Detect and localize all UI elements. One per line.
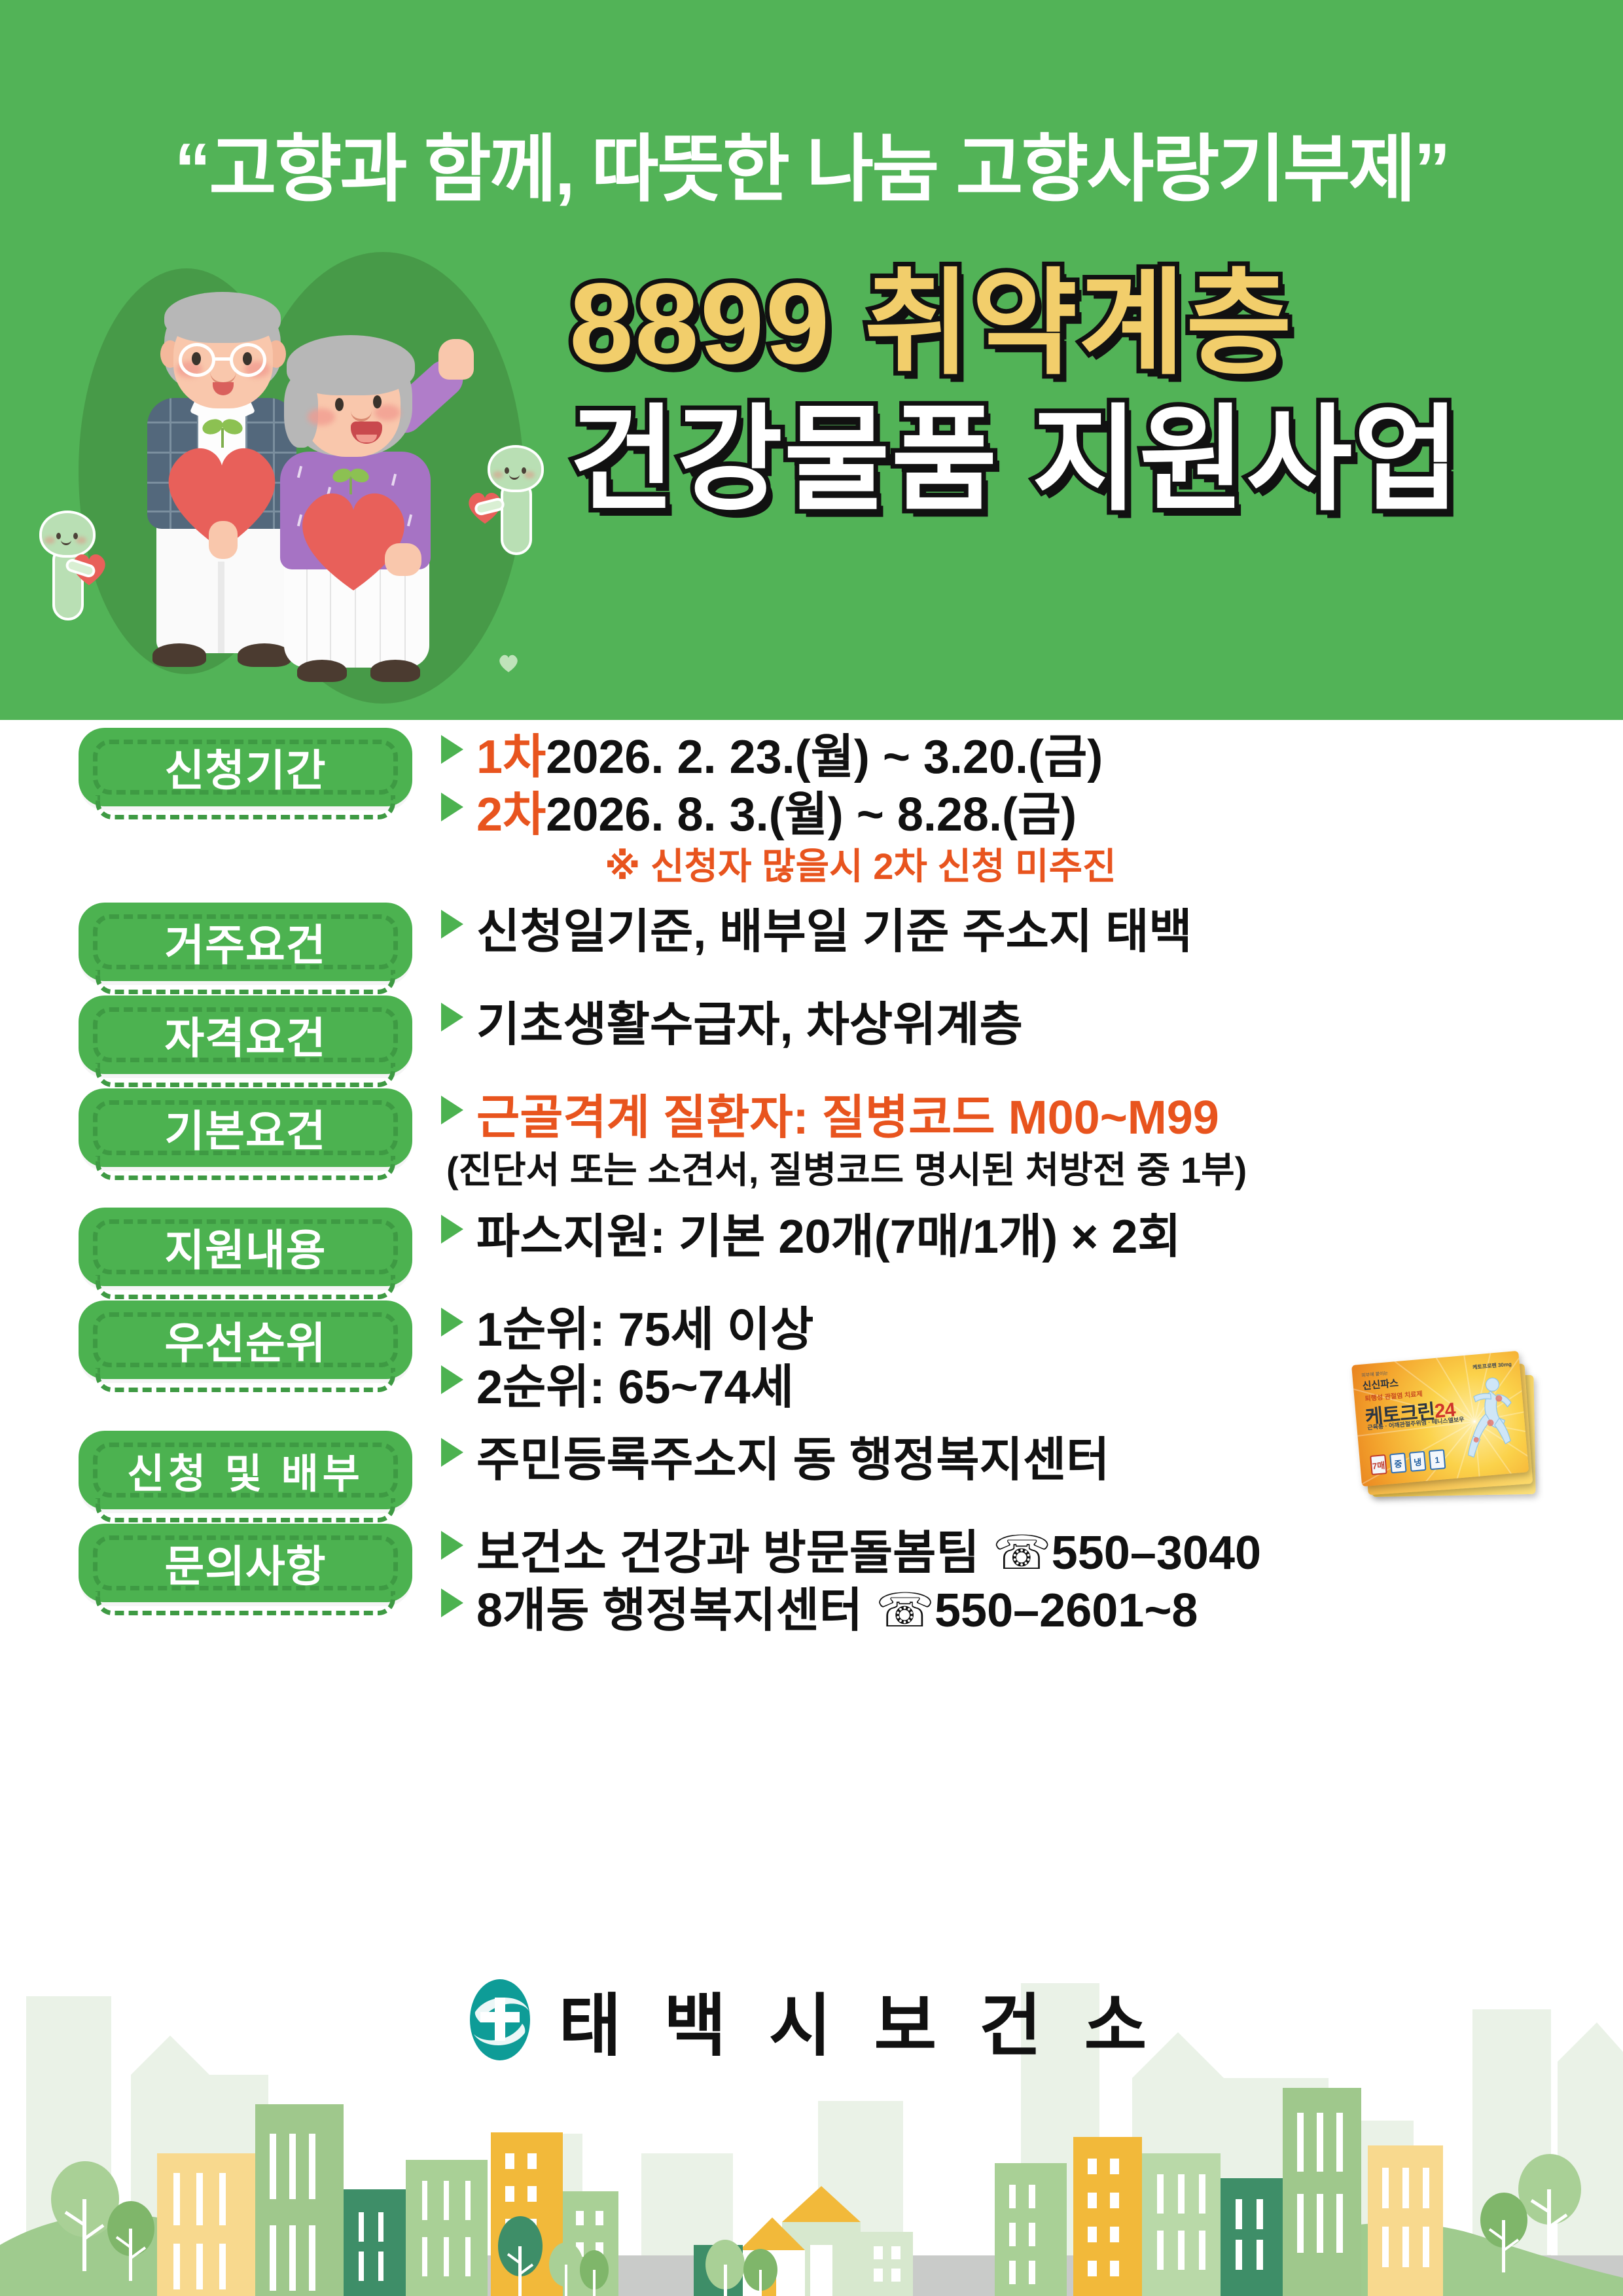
triangle-bullet-icon — [441, 1308, 463, 1336]
info-row-eligibility: 자격요건 기초생활수급자, 차상위계층 — [0, 996, 1623, 1074]
triangle-bullet-icon — [441, 910, 463, 939]
info-row-support-details: 지원내용 파스지원: 기본 20개(7매/1개) × 2회 — [0, 1208, 1623, 1286]
priority-1-text: 1순위: 75세 이상 — [476, 1302, 813, 1359]
patch-chip-cooling: 냉 — [1409, 1451, 1427, 1472]
taebaek-health-center-logo-icon — [465, 1975, 535, 2064]
bullet-line: 신청일기준, 배부일 기준 주소지 태백 — [441, 904, 1623, 961]
patch-box-front: 피부에 붙이는 신신파스 케토프로펜 30mg 퇴행성 관절염 치료제 케토크린… — [1351, 1351, 1529, 1487]
badge-label: 기본요건 — [165, 1096, 327, 1159]
patch-chip-duration: 1 — [1429, 1449, 1446, 1470]
bullet-line: 파스지원: 기본 20개(7매/1개) × 2회 — [441, 1209, 1623, 1266]
grandmother-figure — [275, 327, 445, 694]
main-title: 8899 취약계층 건강물품 지원사업 — [569, 262, 1590, 522]
badge-label: 우선순위 — [165, 1308, 327, 1371]
triangle-bullet-icon — [441, 1365, 463, 1394]
triangle-bullet-icon — [441, 1215, 463, 1244]
inquiry-health-center: 보건소 건강과 방문돌봄팀 ☏550–3040 — [476, 1525, 1261, 1583]
row-content: 신청일기준, 배부일 기준 주소지 태백 — [412, 903, 1623, 961]
badge-basic-requirement: 기본요건 — [79, 1088, 412, 1167]
residency-text: 신청일기준, 배부일 기준 주소지 태백 — [476, 904, 1192, 961]
apply-distribute-text: 주민등록주소지 동 행정복지센터 — [476, 1432, 1109, 1490]
row-content: 기초생활수급자, 차상위계층 — [412, 996, 1623, 1054]
organization-name: 태 백 시 보 건 소 — [559, 1970, 1159, 2069]
running-figure-icon — [1455, 1374, 1519, 1470]
phase-1-dates: 2026. 2. 23.(월) ~ 3.20.(금) — [546, 729, 1103, 787]
patch-dosage-text: 케토프로펜 30mg — [1472, 1361, 1512, 1371]
patch-brand-name: 피부에 붙이는 신신파스 — [1361, 1369, 1399, 1393]
heart-icon-large — [292, 483, 415, 594]
badge-label: 지원내용 — [165, 1215, 327, 1278]
badge-label: 신청 및 배부 — [127, 1441, 364, 1499]
patch-brand-tagline: 피부에 붙이는 — [1361, 1369, 1398, 1379]
triangle-bullet-icon — [441, 1531, 463, 1560]
info-row-application-period: 신청기간 1차 2026. 2. 23.(월) ~ 3.20.(금) 2차 20… — [0, 728, 1623, 888]
disease-code-text: 근골격계 질환자: 질병코드 M00~M99 — [476, 1090, 1219, 1147]
triangle-bullet-icon — [441, 1096, 463, 1124]
badge-label: 거주요건 — [165, 910, 327, 973]
title-line-2: 건강물품 지원사업 — [569, 398, 1590, 522]
badge-support-details: 지원내용 — [79, 1208, 412, 1286]
phase-2-label: 2차 — [476, 787, 546, 844]
triangle-bullet-icon — [441, 793, 463, 821]
info-row-basic-requirement: 기본요건 근골격계 질환자: 질병코드 M00~M99 (진단서 또는 소견서,… — [0, 1088, 1623, 1193]
elderly-couple-illustration — [0, 249, 589, 720]
badge-application-period: 신청기간 — [79, 728, 412, 806]
triangle-bullet-icon — [441, 1003, 463, 1031]
badge-residency: 거주요건 — [79, 903, 412, 981]
bullet-line: 2차 2026. 8. 3.(월) ~ 8.28.(금) — [441, 787, 1623, 844]
support-details-text: 파스지원: 기본 20개(7매/1개) × 2회 — [476, 1209, 1181, 1266]
heart-icon-small — [497, 653, 520, 673]
badge-eligibility: 자격요건 — [79, 996, 412, 1074]
badge-inquiries: 문의사항 — [79, 1524, 412, 1602]
bullet-line: 1차 2026. 2. 23.(월) ~ 3.20.(금) — [441, 729, 1623, 787]
badge-label: 신청기간 — [165, 736, 327, 798]
badge-apply-distribute: 신청 및 배부 — [79, 1431, 412, 1509]
patch-brand-text: 신신파스 — [1362, 1378, 1399, 1392]
bullet-line: 근골격계 질환자: 질병코드 M00~M99 — [441, 1090, 1623, 1147]
poster-root: “고향과 함께, 따뜻한 나눔 고향사랑기부제” — [0, 0, 1623, 2296]
badge-label: 문의사항 — [165, 1532, 327, 1594]
health-center-logo: 태 백 시 보 건 소 — [0, 1970, 1623, 2069]
triangle-bullet-icon — [441, 1438, 463, 1467]
poster-footer: 태 백 시 보 건 소 — [0, 1937, 1623, 2296]
priority-2-text: 2순위: 65~74세 — [476, 1359, 794, 1417]
row-content: 파스지원: 기본 20개(7매/1개) × 2회 — [412, 1208, 1623, 1266]
row-content: 근골격계 질환자: 질병코드 M00~M99 (진단서 또는 소견서, 질병코드… — [412, 1088, 1623, 1193]
triangle-bullet-icon — [441, 1588, 463, 1617]
badge-label: 자격요건 — [165, 1003, 327, 1066]
title-line-1: 8899 취약계층 — [569, 262, 1590, 386]
info-row-residency: 거주요건 신청일기준, 배부일 기준 주소지 태백 — [0, 903, 1623, 981]
basic-requirement-subnote: (진단서 또는 소견서, 질병코드 명시된 처방전 중 1부) — [441, 1147, 1623, 1193]
bullet-line: 기초생활수급자, 차상위계층 — [441, 997, 1623, 1054]
application-period-note: ※ 신청자 많을시 2차 신청 미추진 — [441, 844, 1623, 888]
triangle-bullet-icon — [441, 735, 463, 764]
slogan-text: “고향과 함께, 따뜻한 나눔 고향사랑기부제” — [0, 110, 1623, 216]
patch-chip-strength: 중 — [1389, 1452, 1407, 1473]
phase-2-dates: 2026. 8. 3.(월) ~ 8.28.(금) — [546, 787, 1077, 844]
patch-chip-count: 7매 — [1370, 1454, 1387, 1475]
row-content: 1차 2026. 2. 23.(월) ~ 3.20.(금) 2차 2026. 8… — [412, 728, 1623, 888]
badge-priority: 우선순위 — [79, 1300, 412, 1379]
inquiry-community-centers: 8개동 행정복지센터 ☏550–2601~8 — [476, 1583, 1198, 1640]
phase-1-label: 1차 — [476, 729, 546, 787]
bullet-line: 8개동 행정복지센터 ☏550–2601~8 — [441, 1583, 1623, 1640]
eligibility-text: 기초생활수급자, 차상위계층 — [476, 997, 1023, 1054]
pain-relief-patch-product-image: 피부에 붙이는 신신파스 케토프로펜 30mg 퇴행성 관절염 치료제 케토크린… — [1346, 1336, 1559, 1549]
poster-header: “고향과 함께, 따뜻한 나눔 고향사랑기부제” — [0, 0, 1623, 720]
